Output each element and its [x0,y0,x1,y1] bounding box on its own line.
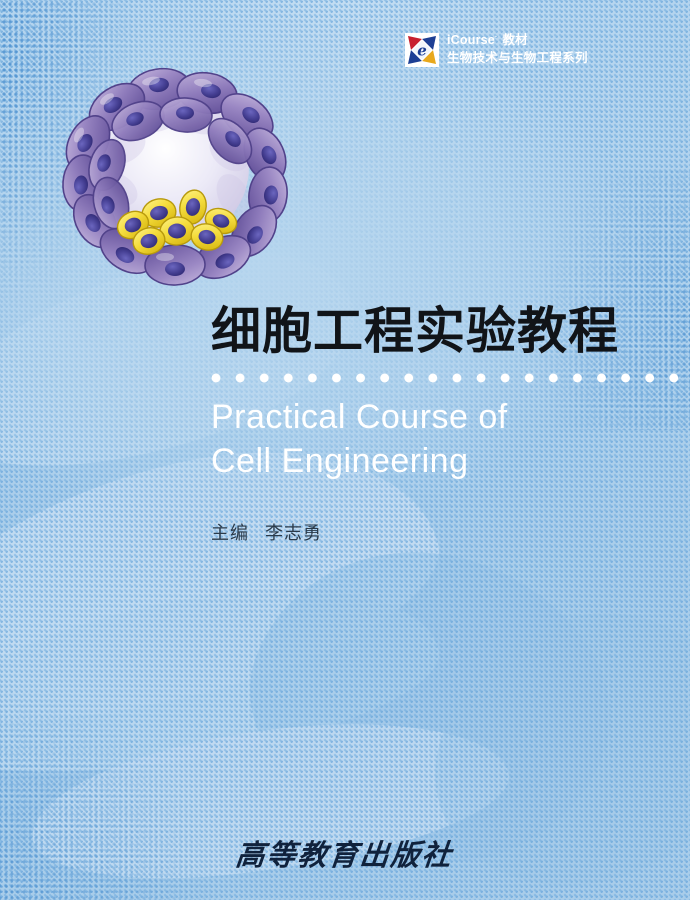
blastocyst-illustration [55,55,295,295]
halftone-corner-top-right [490,170,690,430]
author-role: 主编 [211,523,249,543]
author-credit: 主编李志勇 [211,519,322,545]
series-brand-cn: 教材 [502,33,527,47]
book-title-english-line-1: Practical Course of [211,396,508,440]
publisher-name: 高等教育出版社 [234,832,455,874]
book-cover: e iCourse·教材 生物技术与生物工程系列 [0,0,690,900]
book-title-english: Practical Course of Cell Engineering [211,396,508,483]
icourse-logo: e [405,33,439,67]
book-title-chinese: 细胞工程实验教程 [211,303,619,359]
series-brand: iCourse [447,33,495,47]
book-title-english-line-2: Cell Engineering [211,440,508,484]
series-subtitle: 生物技术与生物工程系列 [447,51,588,67]
svg-text:e: e [417,42,427,60]
author-name: 李志勇 [265,523,322,543]
series-brand-sup: · [495,34,498,41]
dotted-rule-divider [211,373,690,383]
series-text-group: iCourse·教材 生物技术与生物工程系列 [447,33,588,66]
series-badge: e iCourse·教材 生物技术与生物工程系列 [405,33,588,67]
publisher-block: 高等教育出版社 [0,832,690,874]
series-brand-line: iCourse·教材 [447,33,588,49]
